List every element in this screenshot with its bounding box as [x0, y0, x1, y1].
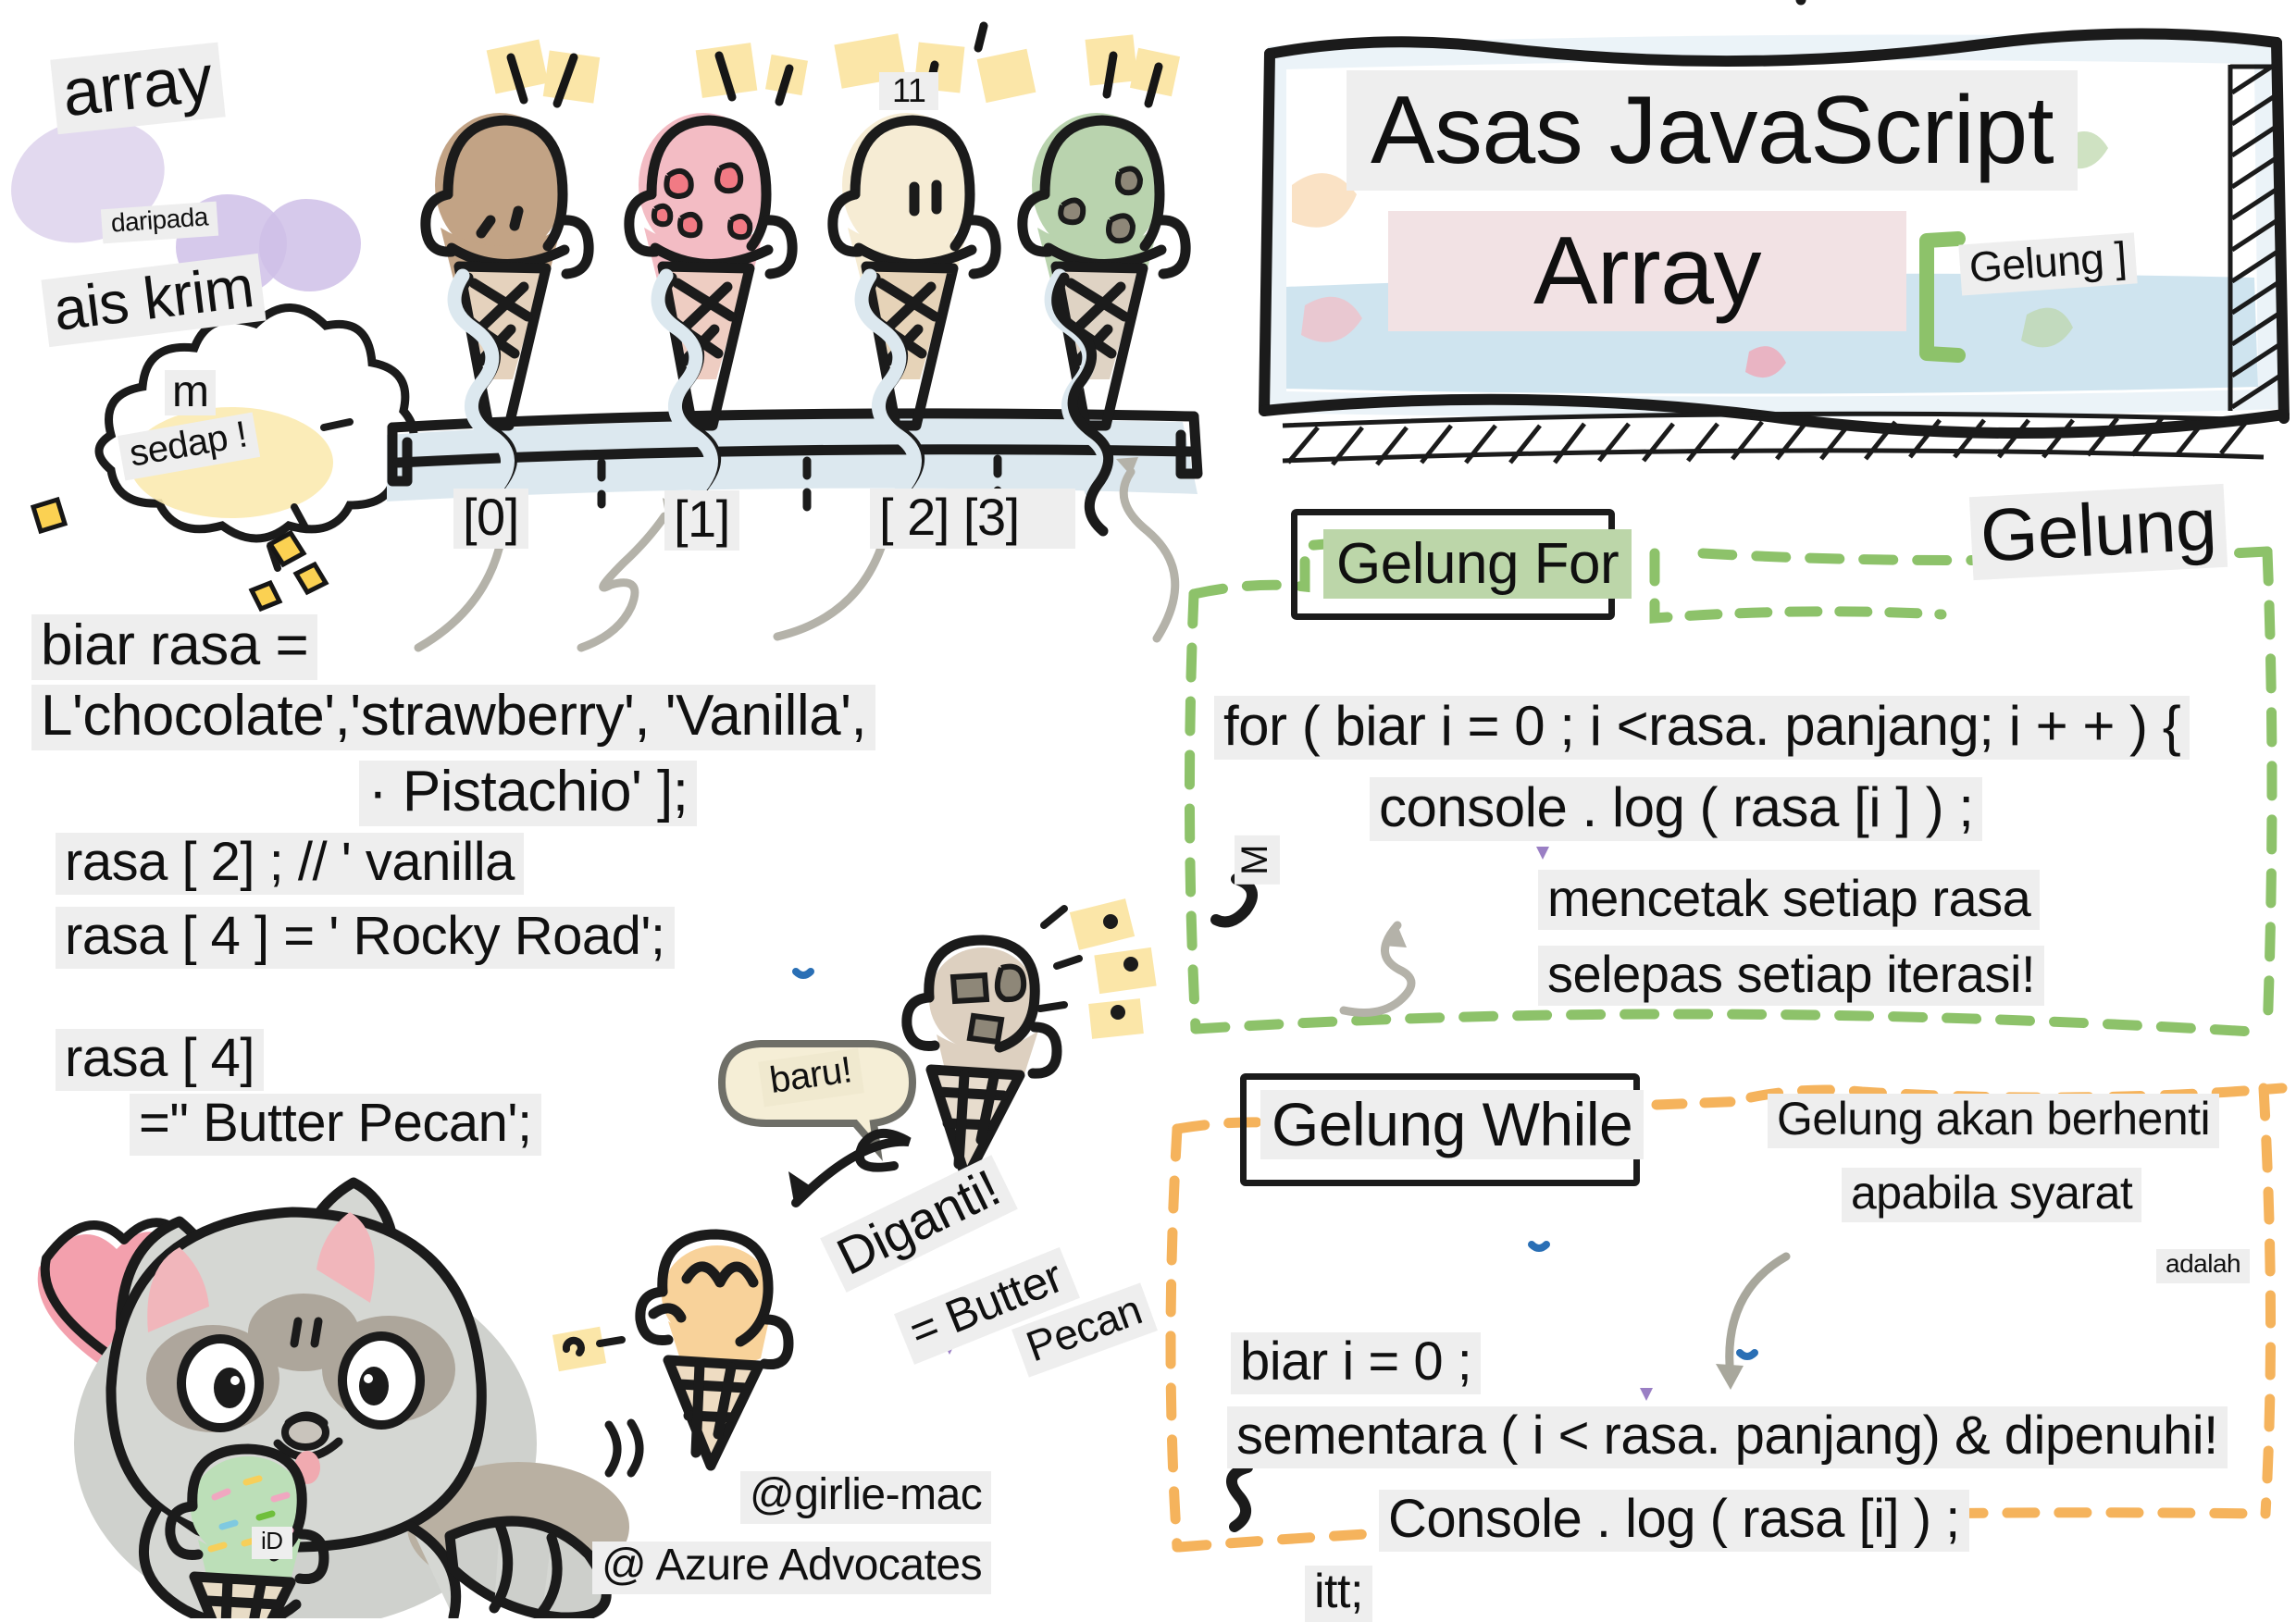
banner-title-line2: Array	[1388, 211, 1906, 331]
code-line-declare: biar rasa =	[31, 614, 317, 680]
while-code-line-1: biar i = 0 ;	[1231, 1332, 1481, 1394]
label-diganti: Diganti!	[820, 1155, 1018, 1293]
banner-title-line1: Asas JavaScript	[1347, 70, 2078, 191]
while-note-line-2: apabila syarat	[1842, 1168, 2141, 1222]
code-line-index4: rasa [ 4]	[56, 1029, 264, 1091]
for-code-line-2: console . log ( rasa [i ] ) ;	[1370, 777, 1982, 841]
label-m: m	[165, 370, 216, 415]
code-line-values: L'chocolate','strawberry', 'Vanilla',	[31, 685, 875, 750]
decor-blob-purple-3	[259, 199, 361, 291]
for-side-letter: M	[1235, 836, 1280, 885]
label-eleven: 11	[879, 72, 938, 110]
index-label-0: [0]	[453, 489, 528, 549]
code-line-assign-rocky: rasa [ 4 ] = ' Rocky Road';	[56, 907, 675, 969]
for-note-line-1: mencetak setiap rasa	[1538, 870, 2040, 930]
tag-gelung-while: Gelung While	[1260, 1090, 1644, 1159]
index-label-1: [1]	[664, 490, 739, 551]
label-tiny-id: iD	[252, 1527, 292, 1559]
index-label-2-3: [ 2] [3]	[870, 489, 1075, 549]
for-code-line-1: for ( biar i = 0 ; i <rasa. panjang; i +…	[1214, 696, 2190, 760]
credit-handle: @girlie-mac	[740, 1471, 991, 1524]
while-code-line-4: itt;	[1305, 1566, 1372, 1622]
while-code-line-3: Console . log ( rasa [i] ) ;	[1379, 1490, 1969, 1552]
while-note-line-3: adalah	[2156, 1249, 2250, 1283]
label-baru: baru!	[758, 1048, 863, 1107]
code-line-butter-pecan: =" Butter Pecan';	[130, 1094, 541, 1156]
code-line-pistachio: · Pistachio' ];	[359, 761, 697, 826]
sketchnote-canvas: array daripada ais krim m sedap ! 11 [0]…	[0, 0, 2296, 1618]
while-note-line-1: Gelung akan berhenti	[1768, 1094, 2219, 1148]
section-title-gelung: Gelung	[1969, 484, 2228, 580]
label-array: array	[50, 43, 225, 135]
label-ais-krim: ais krim	[41, 254, 267, 348]
banner-bracket-label: Gelung ]	[1958, 232, 2137, 295]
while-code-line-2: sementara ( i < rasa. panjang) & dipenuh…	[1227, 1406, 2228, 1468]
credit-org: @ Azure Advocates	[592, 1542, 991, 1594]
label-sedap: sedap !	[118, 413, 260, 481]
code-line-access: rasa [ 2] ; // ' vanilla	[56, 833, 524, 895]
tag-gelung-for: Gelung For	[1323, 529, 1632, 599]
for-note-line-2: selepas setiap iterasi!	[1538, 946, 2044, 1006]
